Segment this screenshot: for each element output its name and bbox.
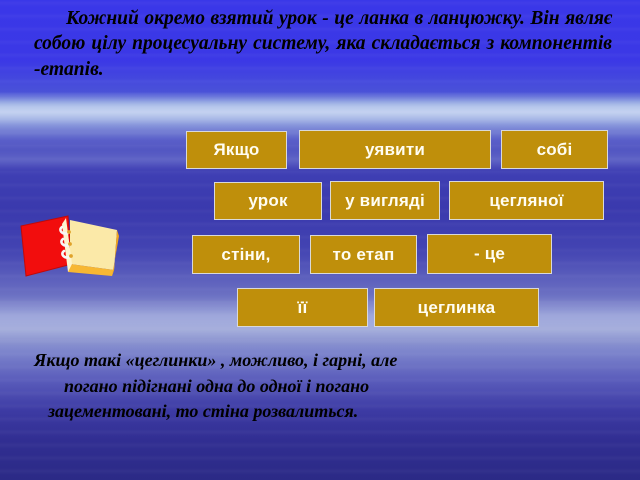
word-box-3-1[interactable]: цеглинка <box>374 288 539 327</box>
word-box-2-0[interactable]: стіни, <box>192 235 300 274</box>
word-box-0-2[interactable]: собі <box>501 130 608 169</box>
bottom-paragraph-line-3: зацементовані, то стіна розвалиться. <box>34 399 608 425</box>
bottom-paragraph-line-1: Якщо такі «цеглинки» , можливо, і гарні,… <box>34 348 608 374</box>
word-box-1-0[interactable]: урок <box>214 182 322 220</box>
word-box-1-1[interactable]: у вигляді <box>330 181 440 220</box>
bottom-paragraph: Якщо такі «цеглинки» , можливо, і гарні,… <box>34 348 608 425</box>
top-paragraph: Кожний окремо взятий урок - це ланка в л… <box>34 6 612 82</box>
word-box-0-0[interactable]: Якщо <box>186 131 287 169</box>
open-book-icon <box>18 208 122 280</box>
slide-canvas: Кожний окремо взятий урок - це ланка в л… <box>0 0 640 480</box>
word-box-1-2[interactable]: цегляної <box>449 181 604 220</box>
bottom-paragraph-line-2: погано підігнані одна до одної і погано <box>34 374 608 400</box>
background-horizon-band <box>0 96 640 126</box>
word-box-2-2[interactable]: - це <box>427 234 552 274</box>
word-box-0-1[interactable]: уявити <box>299 130 491 169</box>
word-box-3-0[interactable]: її <box>237 288 368 327</box>
word-box-2-1[interactable]: то етап <box>310 235 417 274</box>
